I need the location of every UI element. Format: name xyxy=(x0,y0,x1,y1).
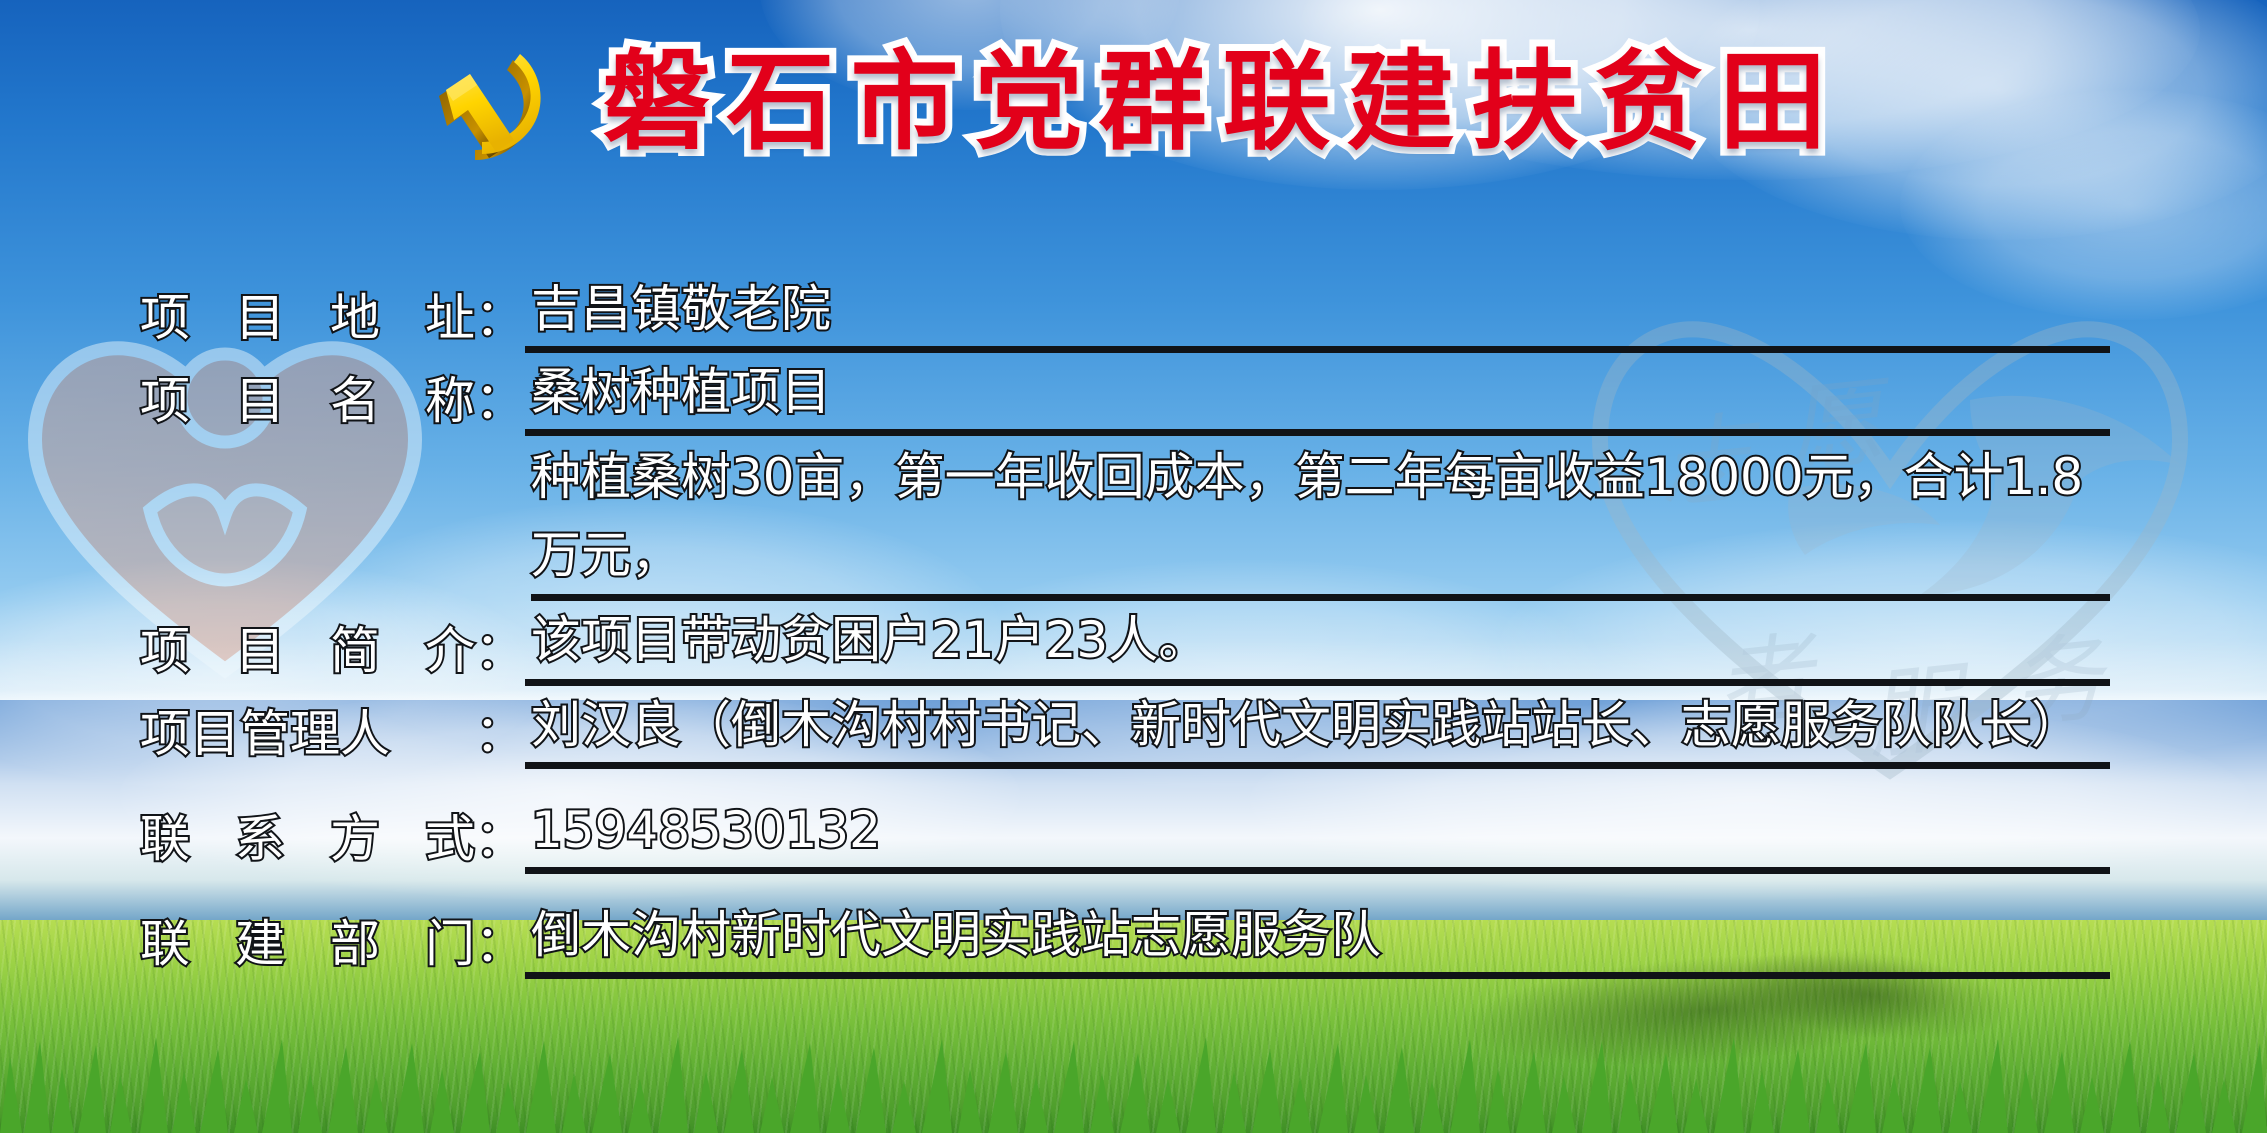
grass-blades-icon xyxy=(0,1023,2267,1133)
colon-project-address: ： xyxy=(475,283,525,353)
form-row-contact: 联系方式 ： 15948530132 xyxy=(140,793,2110,874)
form-row-project-intro: 项目简介 ： 种植桑树30亩，第一年收回成本，第二年每亩收益18000元，合计1… xyxy=(140,438,2110,686)
colon-partner-department: ： xyxy=(475,909,525,979)
value-wrap-project-manager: 刘汉良（倒木沟村村书记、新时代文明实践站站长、志愿服务队队长） xyxy=(525,688,2110,769)
colon-project-intro: ： xyxy=(475,616,525,686)
form-row-project-manager: 项目管理人 ： 刘汉良（倒木沟村村书记、新时代文明实践站站长、志愿服务队队长） xyxy=(140,688,2110,769)
value-project-name: 桑树种植项目 xyxy=(531,355,2110,429)
form-row-project-address: 项目地址 ： 吉昌镇敬老院 xyxy=(140,272,2110,353)
label-project-name: 项目名称 xyxy=(140,366,475,436)
value-wrap-project-address: 吉昌镇敬老院 xyxy=(525,272,2110,353)
value-project-manager: 刘汉良（倒木沟村村书记、新时代文明实践站站长、志愿服务队队长） xyxy=(531,688,2110,762)
value-wrap-project-name: 桑树种植项目 xyxy=(525,355,2110,436)
label-project-address: 项目地址 xyxy=(140,283,475,353)
value-wrap-project-intro: 种植桑树30亩，第一年收回成本，第二年每亩收益18000元，合计1.8万元， 该… xyxy=(525,438,2110,686)
value-project-intro: 种植桑树30亩，第一年收回成本，第二年每亩收益18000元，合计1.8万元， 该… xyxy=(531,438,2110,679)
ccp-hammer-sickle-emblem-icon xyxy=(424,46,564,164)
project-info-form: 项目地址 ： 吉昌镇敬老院 项目名称 ： 桑树种植项目 项目简介 ： 种植桑树3… xyxy=(140,272,2110,979)
value-project-intro-line-2: 该项目带动贫困户21户23人。 xyxy=(531,594,2110,679)
value-wrap-partner-department: 倒木沟村新时代文明实践站志愿服务队 xyxy=(525,898,2110,979)
form-row-partner-department: 联建部门 ： 倒木沟村新时代文明实践站志愿服务队 xyxy=(140,898,2110,979)
poster-board: 志 愿 者 服 务 xyxy=(0,0,2267,1133)
value-wrap-contact: 15948530132 xyxy=(525,793,2110,874)
poster-header: 磐石市党群联建扶贫田 xyxy=(0,28,2267,178)
colon-project-name: ： xyxy=(475,366,525,436)
label-partner-department: 联建部门 xyxy=(140,909,475,979)
label-contact: 联系方式 xyxy=(140,804,475,874)
value-project-address: 吉昌镇敬老院 xyxy=(531,272,2110,346)
page-title: 磐石市党群联建扶贫田 xyxy=(602,49,1842,157)
value-partner-department: 倒木沟村新时代文明实践站志愿服务队 xyxy=(531,898,2110,972)
label-project-intro: 项目简介 xyxy=(140,616,475,686)
value-contact-phone: 15948530132 xyxy=(531,793,2110,867)
colon-project-manager: ： xyxy=(475,699,525,769)
form-row-project-name: 项目名称 ： 桑树种植项目 xyxy=(140,355,2110,436)
value-project-intro-line-1: 种植桑树30亩，第一年收回成本，第二年每亩收益18000元，合计1.8万元， xyxy=(531,438,2110,594)
colon-contact: ： xyxy=(475,804,525,874)
label-project-manager: 项目管理人 xyxy=(140,699,475,769)
